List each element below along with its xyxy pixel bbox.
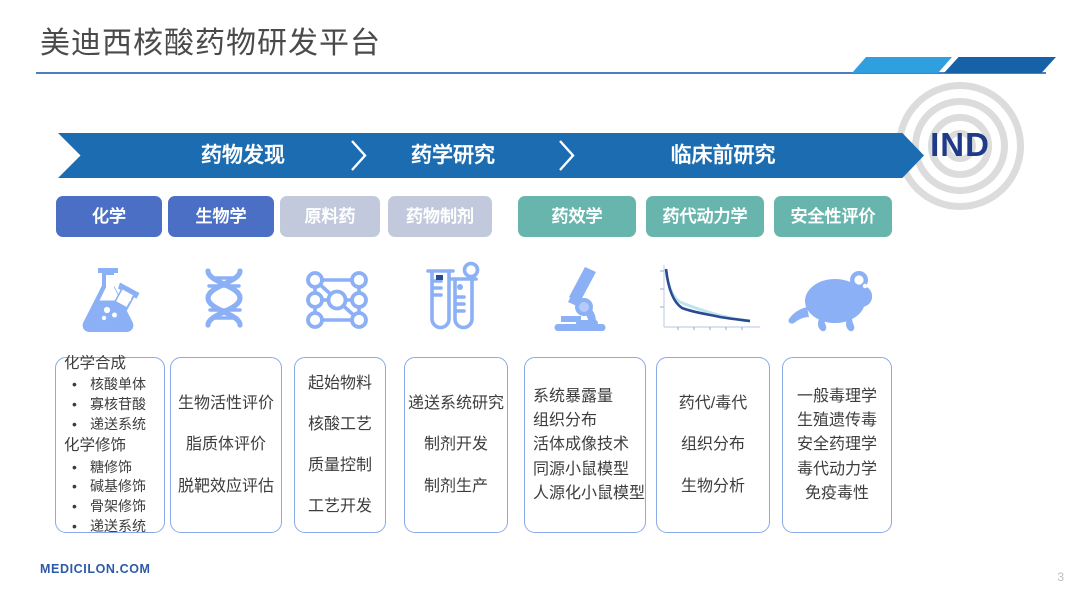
card-line: 生物活性评价	[178, 394, 274, 413]
pill-pharmacodynamics[interactable]: 药效学	[518, 196, 636, 237]
card-chemistry: 化学合成 核酸单体 寡核苷酸 递送系统 化学修饰 糖修饰 碱基修饰 骨架修饰 递…	[55, 357, 165, 533]
card-line: 起始物料	[308, 374, 372, 393]
card-line: 同源小鼠模型	[533, 460, 637, 479]
list-item: 骨架修饰	[90, 497, 156, 517]
card-api: 起始物料 核酸工艺 质量控制 工艺开发	[294, 357, 386, 533]
card-line: 组织分布	[533, 411, 637, 430]
list-item: 糖修饰	[90, 458, 156, 478]
header-ribbon-light	[852, 57, 952, 73]
dna-helix-icon	[172, 256, 276, 344]
footer-brand[interactable]: MEDICILON.COM	[40, 562, 151, 576]
card-biology: 生物活性评价 脂质体评价 脱靶效应评估	[170, 357, 282, 533]
card-line: 人源化小鼠模型	[533, 484, 637, 503]
list-item: 寡核苷酸	[90, 395, 156, 415]
card-drug-formulation: 递送系统研究 制剂开发 制剂生产	[404, 357, 508, 533]
card-line: 生殖遗传毒	[797, 411, 877, 430]
phase-label-drug-discovery[interactable]: 药物发现	[148, 133, 338, 178]
pill-pharmacokinetics[interactable]: 药代动力学	[646, 196, 764, 237]
card-line: 系统暴露量	[533, 387, 637, 406]
phase-separator-chevron-icon-2	[558, 139, 575, 172]
list-item: 递送系统	[90, 517, 156, 537]
card-safety-evaluation: 一般毒理学 生殖遗传毒 安全药理学 毒代动力学 免疫毒性	[782, 357, 892, 533]
card-line: 毒代动力学	[797, 460, 877, 479]
card-group-list: 核酸单体 寡核苷酸 递送系统	[64, 375, 156, 435]
card-line: 核酸工艺	[308, 415, 372, 434]
card-line: 免疫毒性	[805, 484, 869, 503]
phase-arrow-band: 药物发现 药学研究 临床前研究	[58, 133, 924, 178]
card-group-header: 化学合成	[64, 353, 156, 375]
card-line: 活体成像技术	[533, 435, 637, 454]
card-line: 一般毒理学	[797, 387, 877, 406]
card-line: 脂质体评价	[186, 435, 266, 454]
page-title: 美迪西核酸药物研发平台	[40, 18, 381, 62]
card-pharmacodynamics: 系统暴露量 组织分布 活体成像技术 同源小鼠模型 人源化小鼠模型	[524, 357, 646, 533]
card-line: 生物分析	[681, 477, 745, 496]
card-line: 工艺开发	[308, 497, 372, 516]
phase-label-pharmaceutical-research[interactable]: 药学研究	[358, 133, 548, 178]
page-number: 3	[1057, 570, 1064, 584]
header-ribbon-dark	[944, 57, 1056, 73]
mouse-icon	[776, 256, 894, 344]
pill-drug-formulation[interactable]: 药物制剂	[388, 196, 492, 237]
list-item: 核酸单体	[90, 375, 156, 395]
pk-curve-chart-icon	[646, 256, 770, 344]
pill-api[interactable]: 原料药	[280, 196, 380, 237]
card-group-list-2: 糖修饰 碱基修饰 骨架修饰 递送系统	[64, 458, 156, 538]
card-line: 递送系统研究	[408, 394, 504, 413]
pill-biology[interactable]: 生物学	[168, 196, 274, 237]
test-tubes-icon	[398, 256, 502, 344]
card-line: 质量控制	[308, 456, 372, 475]
card-line: 制剂生产	[424, 477, 488, 496]
pill-safety-evaluation[interactable]: 安全性评价	[774, 196, 892, 237]
card-line: 安全药理学	[797, 435, 877, 454]
microscope-icon	[520, 256, 638, 344]
card-pharmacokinetics: 药代/毒代 组织分布 生物分析	[656, 357, 770, 533]
card-line: 药代/毒代	[679, 394, 747, 413]
card-line: 脱靶效应评估	[178, 477, 274, 496]
list-item: 碱基修饰	[90, 477, 156, 497]
pill-chemistry[interactable]: 化学	[56, 196, 162, 237]
list-item: 递送系统	[90, 415, 156, 435]
flask-icon	[58, 256, 162, 344]
card-line: 组织分布	[681, 435, 745, 454]
card-group-header-2: 化学修饰	[64, 435, 156, 457]
card-line: 制剂开发	[424, 435, 488, 454]
phase-label-preclinical-research[interactable]: 临床前研究	[578, 133, 868, 178]
molecule-network-icon	[284, 256, 390, 344]
